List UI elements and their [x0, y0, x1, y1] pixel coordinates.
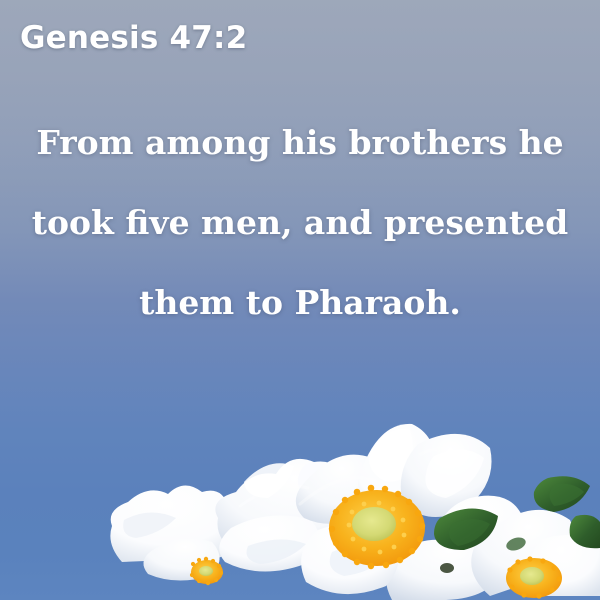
verse-line-1: From among his brothers he: [30, 103, 570, 183]
verse-text-block: From among his brothers he took five men…: [30, 103, 570, 343]
flower-speck: [440, 563, 454, 573]
flower-left-small: [110, 485, 236, 585]
flower-foreground: [0, 420, 600, 600]
verse-line-2: took five men, and presented: [30, 183, 570, 263]
page-title: Genesis 47:2: [20, 20, 247, 56]
verse-line-3: them to Pharaoh.: [30, 263, 570, 343]
verse-image-canvas: Genesis 47:2 From among his brothers he …: [0, 0, 600, 600]
